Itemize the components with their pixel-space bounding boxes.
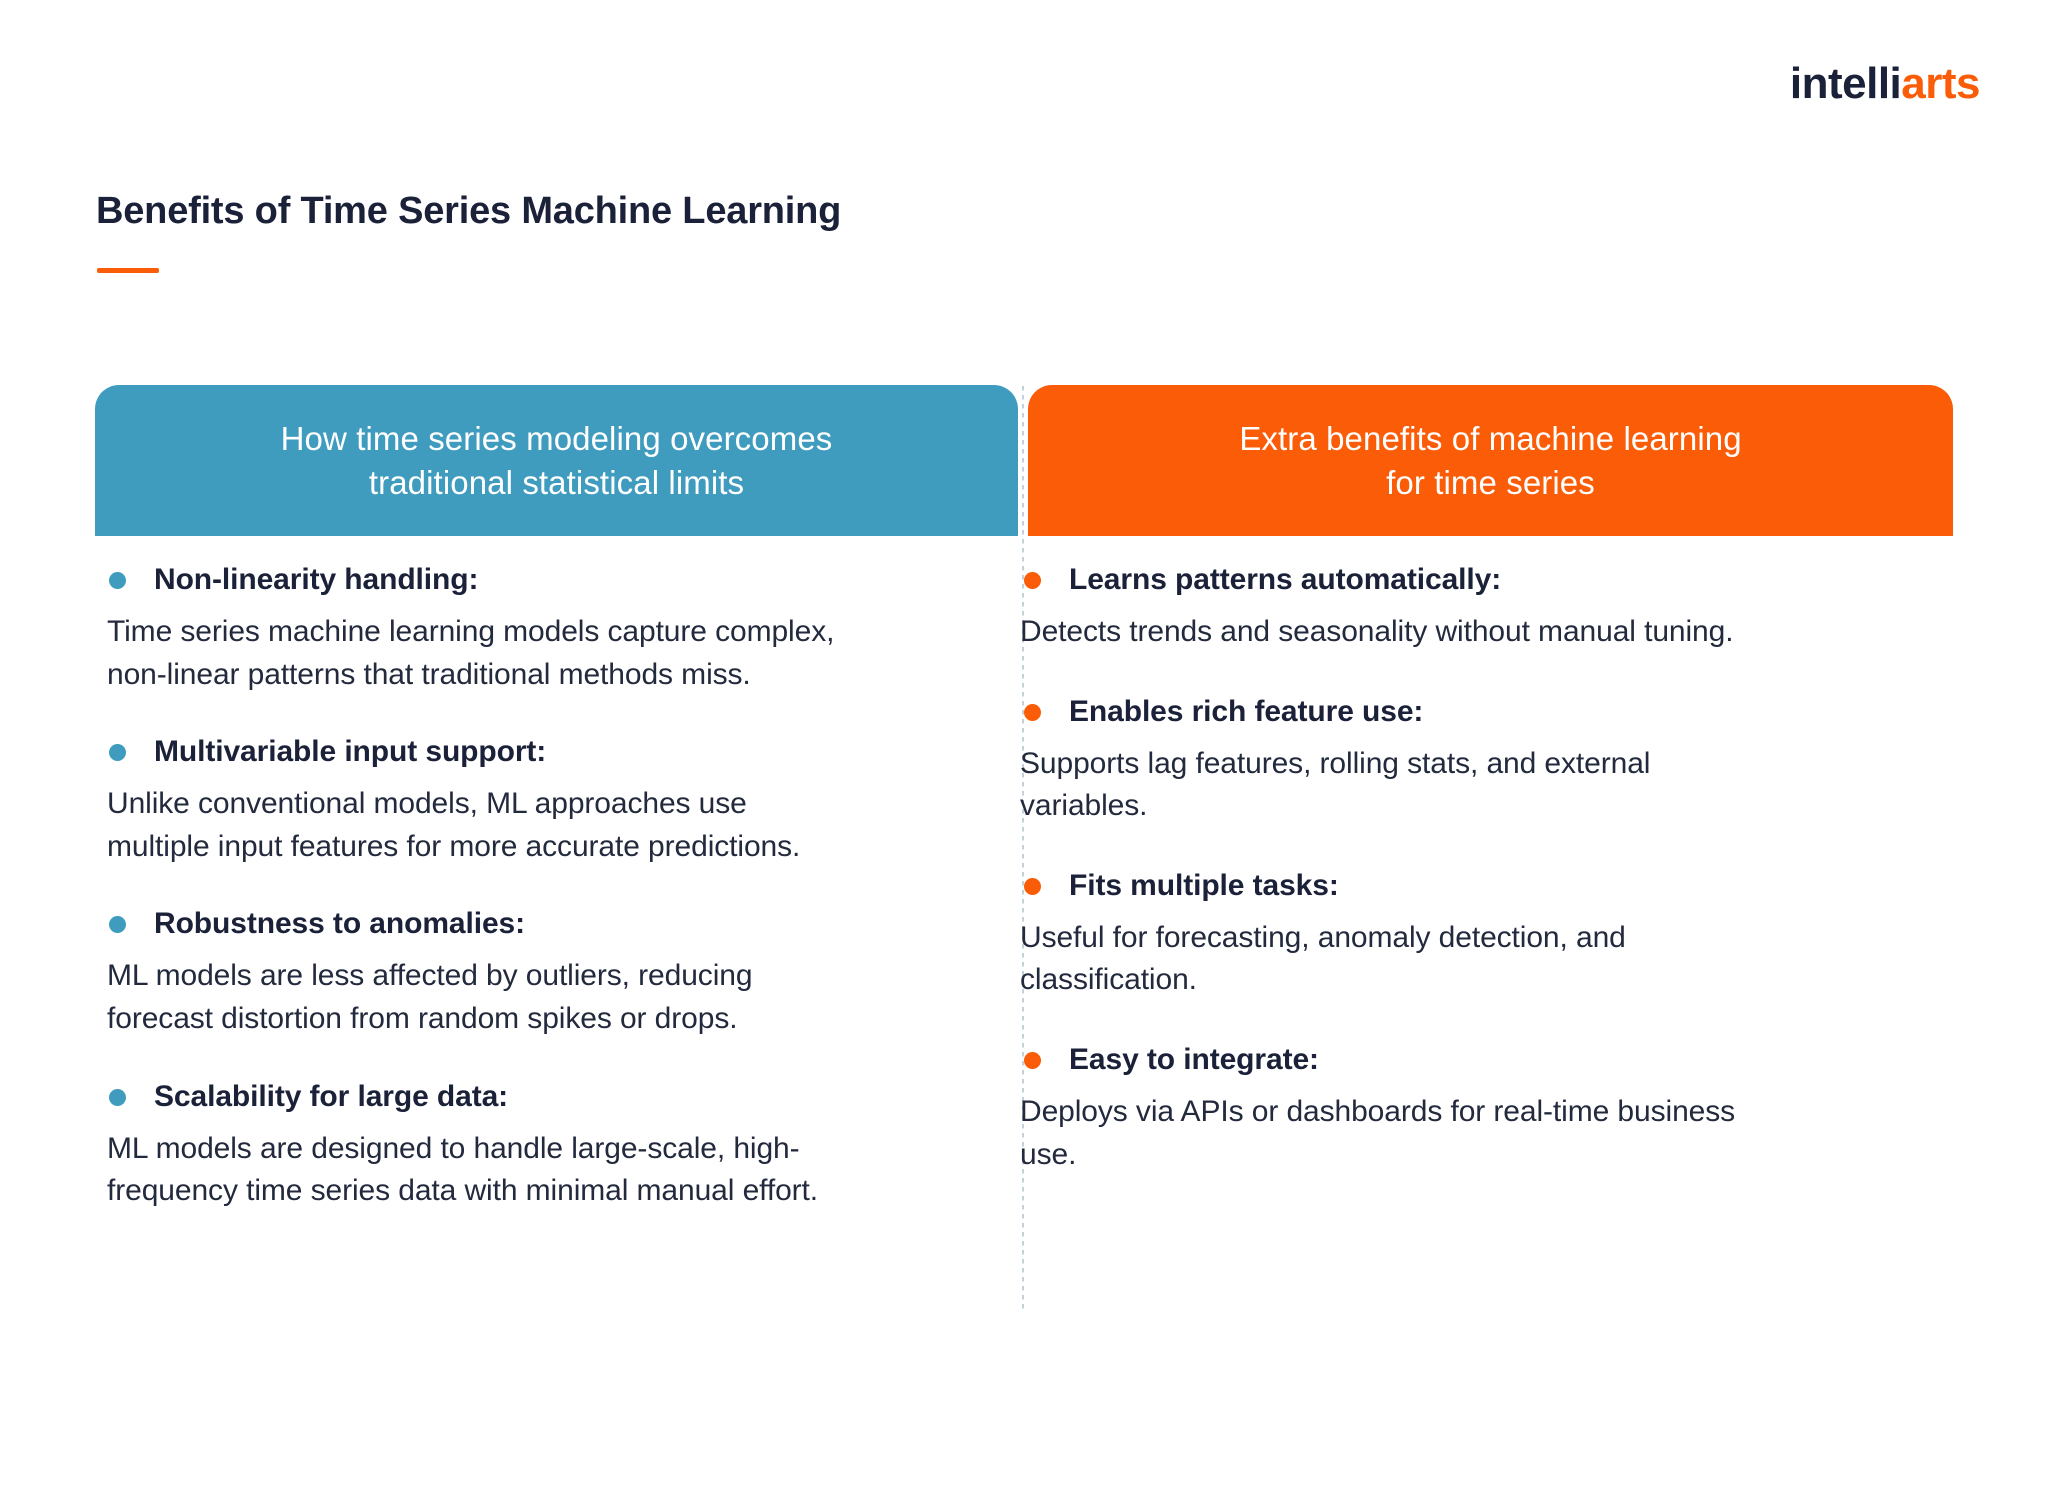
bullet-dot-icon xyxy=(1024,1052,1041,1069)
list-item-body: ML models are less affected by outliers,… xyxy=(107,955,985,1040)
page-title: Benefits of Time Series Machine Learning xyxy=(96,190,841,234)
list-item-title: Non-linearity handling: xyxy=(154,560,478,599)
benefits-column-left: Non-linearity handling: Time series mach… xyxy=(95,560,985,1213)
bullet-dot-icon xyxy=(1024,704,1041,721)
logo-text-accent: arts xyxy=(1901,59,1980,108)
bullet-dot-icon xyxy=(1024,572,1041,589)
list-item-title: Robustness to anomalies: xyxy=(154,904,525,943)
list-item-body: Detects trends and seasonality without m… xyxy=(1020,611,1910,654)
list-item-heading: Fits multiple tasks: xyxy=(1010,866,1910,905)
list-item-title: Multivariable input support: xyxy=(154,732,546,771)
list-item-heading: Non-linearity handling: xyxy=(95,560,985,599)
list-item-title: Easy to integrate: xyxy=(1069,1040,1319,1079)
list-item-body: Deploys via APIs or dashboards for real-… xyxy=(1020,1091,1910,1176)
list-item-title: Scalability for large data: xyxy=(154,1077,508,1116)
list-item-heading: Enables rich feature use: xyxy=(1010,692,1910,731)
brand-logo: intelliarts xyxy=(1790,62,1980,106)
list-item-heading: Multivariable input support: xyxy=(95,732,985,771)
list-item: Learns patterns automatically: Detects t… xyxy=(1010,560,1910,654)
bullet-dot-icon xyxy=(1024,878,1041,895)
bullet-dot-icon xyxy=(109,572,126,589)
list-item-body: Useful for forecasting, anomaly detectio… xyxy=(1020,917,1910,1002)
bullet-dot-icon xyxy=(109,1089,126,1106)
bullet-dot-icon xyxy=(109,916,126,933)
list-item-heading: Easy to integrate: xyxy=(1010,1040,1910,1079)
list-item-heading: Learns patterns automatically: xyxy=(1010,560,1910,599)
list-item-body: ML models are designed to handle large-s… xyxy=(107,1128,985,1213)
logo-text-primary: intelli xyxy=(1790,59,1901,108)
list-item: Non-linearity handling: Time series mach… xyxy=(95,560,985,696)
list-item-heading: Robustness to anomalies: xyxy=(95,904,985,943)
list-item: Scalability for large data: ML models ar… xyxy=(95,1077,985,1213)
column-header-left-label: How time series modeling overcomes tradi… xyxy=(281,417,833,504)
list-item-heading: Scalability for large data: xyxy=(95,1077,985,1116)
column-header-left: How time series modeling overcomes tradi… xyxy=(95,385,1018,536)
list-item: Multivariable input support: Unlike conv… xyxy=(95,732,985,868)
list-item: Fits multiple tasks: Useful for forecast… xyxy=(1010,866,1910,1002)
column-header-right-label: Extra benefits of machine learning for t… xyxy=(1239,417,1741,504)
list-item: Robustness to anomalies: ML models are l… xyxy=(95,904,985,1040)
column-header-right: Extra benefits of machine learning for t… xyxy=(1028,385,1953,536)
list-item-title: Fits multiple tasks: xyxy=(1069,866,1339,905)
list-item-title: Enables rich feature use: xyxy=(1069,692,1423,731)
list-item-body: Unlike conventional models, ML approache… xyxy=(107,783,985,868)
bullet-dot-icon xyxy=(109,744,126,761)
list-item: Easy to integrate: Deploys via APIs or d… xyxy=(1010,1040,1910,1176)
list-item-body: Supports lag features, rolling stats, an… xyxy=(1020,743,1910,828)
title-underline-rule xyxy=(97,268,159,273)
list-item-body: Time series machine learning models capt… xyxy=(107,611,985,696)
list-item: Enables rich feature use: Supports lag f… xyxy=(1010,692,1910,828)
list-item-title: Learns patterns automatically: xyxy=(1069,560,1501,599)
benefits-column-right: Learns patterns automatically: Detects t… xyxy=(1010,560,1910,1214)
